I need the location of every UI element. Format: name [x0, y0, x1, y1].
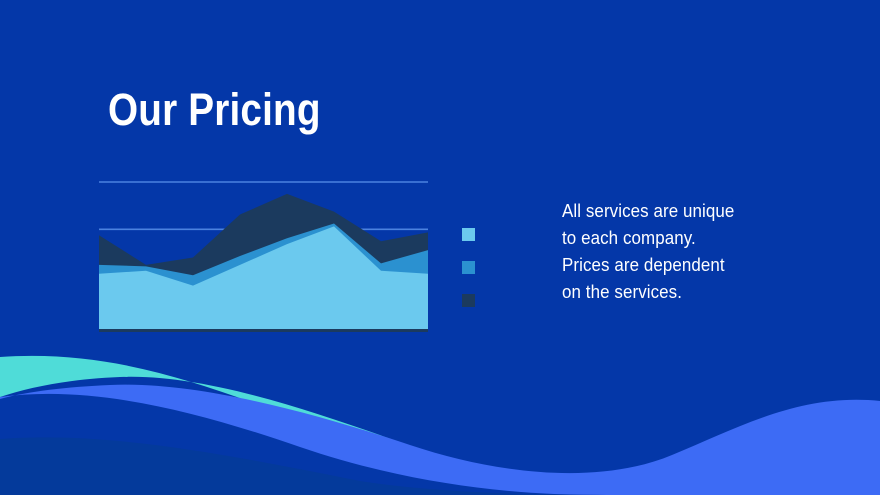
area-chart-svg — [99, 180, 428, 332]
legend-item-light-blue[interactable] — [462, 228, 475, 241]
description-line-3: Prices are dependent — [562, 252, 778, 279]
page-title: Our Pricing — [108, 84, 321, 136]
slide-canvas: Our Pricing All services are unique to e… — [0, 0, 880, 495]
description-text: All services are unique to each company.… — [562, 198, 778, 306]
legend-swatch-medium-blue — [462, 261, 475, 274]
legend-swatch-dark-navy — [462, 294, 475, 307]
legend-item-medium-blue[interactable] — [462, 261, 475, 274]
description-line-4: on the services. — [562, 279, 778, 306]
chart-legend — [462, 228, 476, 327]
wave-base-shadow — [0, 437, 640, 495]
wave-periwinkle-shape — [0, 385, 880, 495]
legend-swatch-light-blue — [462, 228, 475, 241]
description-line-2: to each company. — [562, 225, 778, 252]
wave-svg — [0, 335, 880, 495]
wave-decoration — [0, 335, 880, 495]
pricing-area-chart — [99, 180, 428, 332]
description-line-1: All services are unique — [562, 198, 778, 225]
wave-teal-shape — [0, 356, 880, 495]
legend-item-dark-navy[interactable] — [462, 294, 475, 307]
